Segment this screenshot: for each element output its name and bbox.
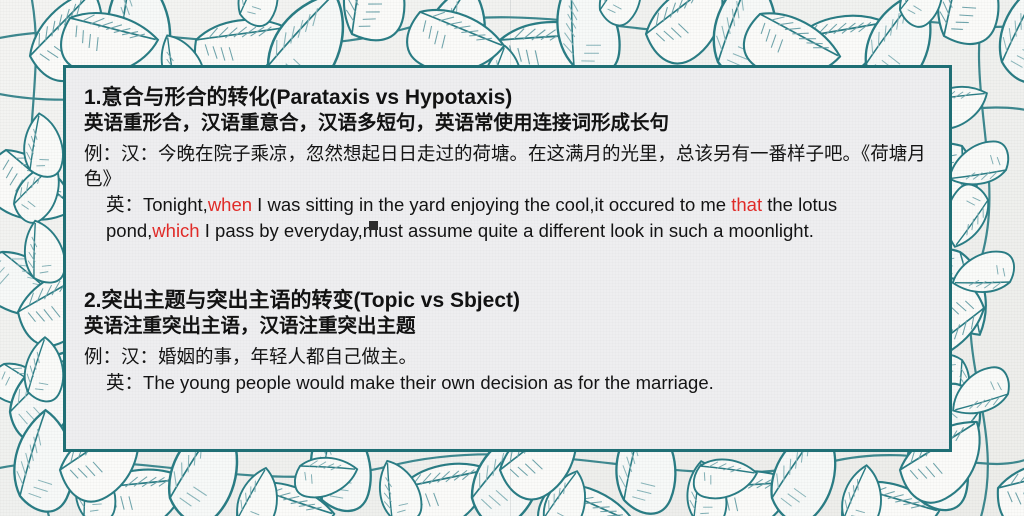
section-1-cn-text: 今晚在院子乘凉，忽然想起日日走过的荷塘。在这满月的光里，总该另有一番样子吧。《荷… bbox=[84, 143, 926, 189]
section-1-chinese-example: 例：汉：今晚在院子乘凉，忽然想起日日走过的荷塘。在这满月的光里，总该另有一番样子… bbox=[84, 141, 929, 191]
section-1: 1.意合与形合的转化(Parataxis vs Hypotaxis) 英语重形合… bbox=[84, 84, 929, 243]
section-1-cn-label: 例：汉： bbox=[84, 143, 158, 164]
section-2-heading: 2.突出主题与突出主语的转变(Topic vs Sbject) bbox=[84, 287, 929, 314]
section-2-chinese-example: 例：汉：婚姻的事，年轻人都自己做主。 bbox=[84, 344, 929, 369]
section-1-heading: 1.意合与形合的转化(Parataxis vs Hypotaxis) bbox=[84, 84, 929, 111]
connective-highlight: which bbox=[152, 220, 199, 241]
sentence-fragment: Tonight, bbox=[143, 194, 208, 215]
section-2-english-example: 英：The young people would make their own … bbox=[84, 370, 929, 395]
content-panel: 1.意合与形合的转化(Parataxis vs Hypotaxis) 英语重形合… bbox=[63, 65, 952, 452]
section-1-rule: 英语重形合，汉语重意合，汉语多短句，英语常使用连接词形成长句 bbox=[84, 111, 929, 137]
section-2-cn-text: 婚姻的事，年轻人都自己做主。 bbox=[158, 346, 417, 367]
section-2-cn-label: 例：汉： bbox=[84, 346, 158, 367]
section-1-en-label: 英： bbox=[106, 194, 143, 215]
section-1-english-example: 英：Tonight,when I was sitting in the yard… bbox=[84, 192, 929, 242]
section-2: 2.突出主题与突出主语的转变(Topic vs Sbject) 英语注重突出主语… bbox=[84, 287, 929, 395]
section-2-en-text: The young people would make their own de… bbox=[143, 372, 714, 393]
connective-highlight: when bbox=[208, 194, 252, 215]
sentence-fragment: I pass by everyday,must assume quite a d… bbox=[200, 220, 814, 241]
section-2-rule: 英语注重突出主语，汉语注重突出主题 bbox=[84, 314, 929, 340]
connective-highlight: that bbox=[731, 194, 762, 215]
slide-canvas: 1.意合与形合的转化(Parataxis vs Hypotaxis) 英语重形合… bbox=[0, 0, 1024, 516]
section-2-en-label: 英： bbox=[106, 372, 143, 393]
section-1-en-text: Tonight,when I was sitting in the yard e… bbox=[106, 194, 837, 240]
sentence-fragment: I was sitting in the yard enjoying the c… bbox=[252, 194, 731, 215]
